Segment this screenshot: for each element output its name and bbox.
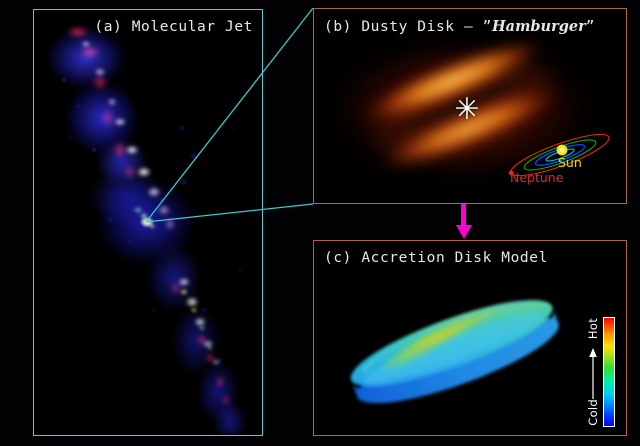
sun-label: Sun xyxy=(558,155,582,170)
colorbar-gradient-strip xyxy=(603,317,615,427)
neptune-label: Neptune xyxy=(510,170,563,185)
temperature-colorbar: Hot Cold xyxy=(559,317,617,427)
colorbar-hot-label: Hot xyxy=(586,318,600,339)
solar-system-scale-inset: Sun Neptune xyxy=(500,123,620,197)
panel-b-title-prefix: (b) Dusty Disk xyxy=(324,19,464,35)
transition-arrow-down-icon xyxy=(455,204,473,240)
panel-b-dusty-disk: ✳ Sun Neptune (b) Dusty Disk — ”Hamburge… xyxy=(313,8,627,204)
panel-a-molecular-jet: (a) Molecular Jet xyxy=(33,9,263,436)
protostar-asterisk-icon: ✳ xyxy=(454,97,480,123)
panel-a-title: (a) Molecular Jet xyxy=(94,19,253,35)
sun-core xyxy=(559,147,564,152)
panel-c-title: (c) Accretion Disk Model xyxy=(324,250,548,266)
panel-b-title-dash: — xyxy=(464,19,483,35)
panel-c-accretion-disk-model: Hot Cold (c) Accretion Disk Model xyxy=(313,240,627,436)
colorbar-cold-label: Cold xyxy=(586,399,600,426)
colorbar-up-arrow-icon xyxy=(588,347,598,399)
panel-b-title: (b) Dusty Disk — ”Hamburger” xyxy=(324,18,595,35)
accretion-disk-3d-render xyxy=(328,277,578,417)
protostar-source xyxy=(138,215,156,229)
panel-b-title-italic: Hamburger xyxy=(492,18,586,35)
figure-root: (a) Molecular Jet ✳ Sun xyxy=(0,0,640,446)
